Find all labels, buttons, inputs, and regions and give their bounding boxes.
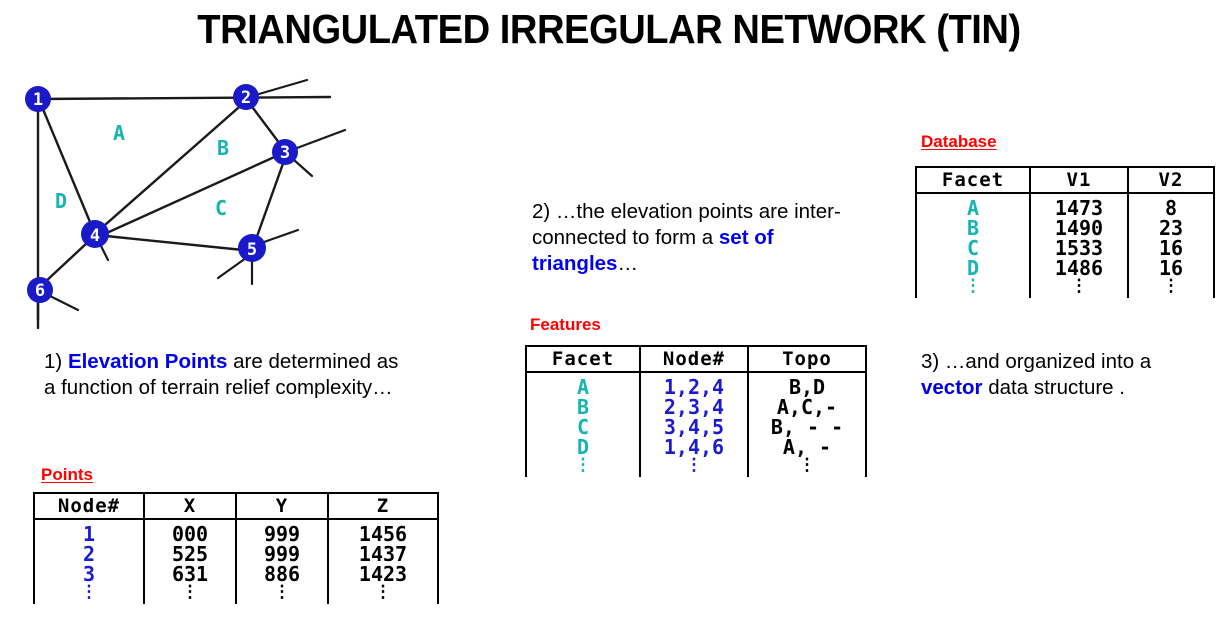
features-cell-facet: D (526, 437, 640, 457)
edge-top-boundary (38, 97, 330, 99)
features-header-topo: Topo (748, 346, 866, 372)
points-table-head: Node# X Y Z (34, 493, 438, 519)
points-cell-y: 886 (236, 564, 328, 584)
points-cell-x: 525 (144, 544, 236, 564)
database-cell-v1: 1490 (1030, 218, 1128, 238)
features-caption: Features (530, 316, 601, 333)
points-table-body: 1 000 999 1456 2 525 999 1437 3 631 886 … (34, 519, 438, 604)
step-2-prefix: 2) …the elevation points are inter-conne… (532, 200, 841, 249)
points-continuation-z: ⋮ (328, 584, 438, 604)
features-cell-nodes: 3,4,5 (640, 417, 748, 437)
step-3-rest: data structure . (983, 376, 1125, 399)
stub-2-right (259, 80, 307, 94)
features-table: Facet Node# Topo A 1,2,4 B,D B 2,3,4 A,C… (525, 345, 867, 477)
features-table-header-row: Facet Node# Topo (526, 346, 866, 372)
database-header-v1: V1 (1030, 167, 1128, 193)
database-cell-v2: 16 (1128, 258, 1214, 278)
table-row: B 1490 23 (916, 218, 1214, 238)
table-row: A 1,2,4 B,D (526, 372, 866, 397)
features-cell-topo: B, - - (748, 417, 866, 437)
points-cell-node: 3 (34, 564, 144, 584)
points-cell-y: 999 (236, 544, 328, 564)
features-header-facet: Facet (526, 346, 640, 372)
features-table-body: A 1,2,4 B,D B 2,3,4 A,C,- C 3,4,5 B, - -… (526, 372, 866, 477)
table-continuation-row: ⋮ ⋮ ⋮ ⋮ (34, 584, 438, 604)
edge-4-5 (106, 236, 243, 250)
database-continuation-facet: ⋮ (916, 278, 1030, 298)
points-header-node: Node# (34, 493, 144, 519)
points-cell-x: 631 (144, 564, 236, 584)
database-table: Facet V1 V2 A 1473 8 B 1490 23 C 1533 16… (915, 166, 1215, 298)
database-cell-v2: 16 (1128, 238, 1214, 258)
points-header-z: Z (328, 493, 438, 519)
node-label-2: 2 (241, 88, 251, 108)
database-cell-v1: 1533 (1030, 238, 1128, 258)
points-continuation-y: ⋮ (236, 584, 328, 604)
points-cell-node: 2 (34, 544, 144, 564)
database-cell-facet: B (916, 218, 1030, 238)
features-cell-facet: B (526, 397, 640, 417)
points-header-x: X (144, 493, 236, 519)
database-cell-v1: 1473 (1030, 193, 1128, 218)
database-cell-v2: 8 (1128, 193, 1214, 218)
table-row: D 1,4,6 A, - (526, 437, 866, 457)
database-table-header-row: Facet V1 V2 (916, 167, 1214, 193)
edge-3-4 (100, 154, 281, 236)
features-header-node: Node# (640, 346, 748, 372)
table-row: 3 631 886 1423 (34, 564, 438, 584)
features-cell-nodes: 1,2,4 (640, 372, 748, 397)
features-continuation-topo: ⋮ (748, 457, 866, 477)
stub-5-upright (264, 230, 298, 242)
points-header-y: Y (236, 493, 328, 519)
table-row: 2 525 999 1437 (34, 544, 438, 564)
step-2-text: 2) …the elevation points are inter-conne… (532, 199, 862, 277)
tin-network-diagram: 1 2 3 4 5 6 A B C D (0, 70, 350, 330)
facet-label-b: B (217, 138, 229, 158)
table-continuation-row: ⋮ ⋮ ⋮ (916, 278, 1214, 298)
points-table: Node# X Y Z 1 000 999 1456 2 525 999 143… (33, 492, 439, 604)
stub-3-downright (294, 160, 312, 176)
points-continuation-x: ⋮ (144, 584, 236, 604)
facet-label-d: D (55, 191, 67, 211)
database-cell-facet: A (916, 193, 1030, 218)
features-cell-topo: A,C,- (748, 397, 866, 417)
points-cell-z: 1456 (328, 519, 438, 544)
table-row: 1 000 999 1456 (34, 519, 438, 544)
table-row: D 1486 16 (916, 258, 1214, 278)
step-1-highlight: Elevation Points (68, 350, 227, 373)
stub-3-upright (297, 130, 345, 148)
step-1-text: 1) Elevation Points are determined as a … (44, 349, 404, 401)
points-cell-node: 1 (34, 519, 144, 544)
points-caption: Points (41, 466, 93, 483)
table-continuation-row: ⋮ ⋮ ⋮ (526, 457, 866, 477)
features-cell-nodes: 2,3,4 (640, 397, 748, 417)
tin-edges (38, 80, 345, 328)
database-continuation-v2: ⋮ (1128, 278, 1214, 298)
database-header-facet: Facet (916, 167, 1030, 193)
step-1-prefix: 1) (44, 350, 68, 373)
features-table-head: Facet Node# Topo (526, 346, 866, 372)
database-header-v2: V2 (1128, 167, 1214, 193)
points-cell-z: 1437 (328, 544, 438, 564)
step-3-highlight: vector (921, 376, 983, 399)
features-cell-topo: A, - (748, 437, 866, 457)
table-row: C 3,4,5 B, - - (526, 417, 866, 437)
facet-label-c: C (215, 198, 227, 218)
database-table-head: Facet V1 V2 (916, 167, 1214, 193)
stub-6-downright (50, 296, 78, 310)
node-label-4: 4 (90, 226, 100, 246)
node-label-5: 5 (247, 240, 257, 260)
database-table-body: A 1473 8 B 1490 23 C 1533 16 D 1486 16 ⋮… (916, 193, 1214, 298)
features-cell-nodes: 1,4,6 (640, 437, 748, 457)
table-row: A 1473 8 (916, 193, 1214, 218)
points-cell-z: 1423 (328, 564, 438, 584)
points-cell-x: 000 (144, 519, 236, 544)
stub-5-downleft (218, 258, 246, 278)
database-cell-facet: C (916, 238, 1030, 258)
node-label-6: 6 (35, 281, 45, 301)
step-2-rest: … (617, 252, 638, 275)
edge-4-6 (44, 242, 88, 283)
database-caption: Database (921, 133, 997, 150)
step-3-prefix: 3) …and organized into a (921, 350, 1151, 373)
database-cell-facet: D (916, 258, 1030, 278)
features-continuation-nodes: ⋮ (640, 457, 748, 477)
features-cell-topo: B,D (748, 372, 866, 397)
step-3-text: 3) …and organized into a vector data str… (921, 349, 1206, 401)
table-row: C 1533 16 (916, 238, 1214, 258)
points-table-header-row: Node# X Y Z (34, 493, 438, 519)
database-cell-v1: 1486 (1030, 258, 1128, 278)
tin-network-svg: 1 2 3 4 5 6 (0, 70, 350, 330)
edge-1-4 (40, 102, 95, 234)
table-row: B 2,3,4 A,C,- (526, 397, 866, 417)
database-cell-v2: 23 (1128, 218, 1214, 238)
database-continuation-v1: ⋮ (1030, 278, 1128, 298)
page-title: TRIANGULATED IRREGULAR NETWORK (TIN) (43, 6, 1176, 53)
features-cell-facet: C (526, 417, 640, 437)
node-label-3: 3 (280, 143, 290, 163)
edge-3-5 (255, 158, 285, 242)
points-cell-y: 999 (236, 519, 328, 544)
node-label-1: 1 (33, 90, 43, 110)
points-continuation-node: ⋮ (34, 584, 144, 604)
features-cell-facet: A (526, 372, 640, 397)
facet-label-a: A (113, 123, 125, 143)
features-continuation-facet: ⋮ (526, 457, 640, 477)
